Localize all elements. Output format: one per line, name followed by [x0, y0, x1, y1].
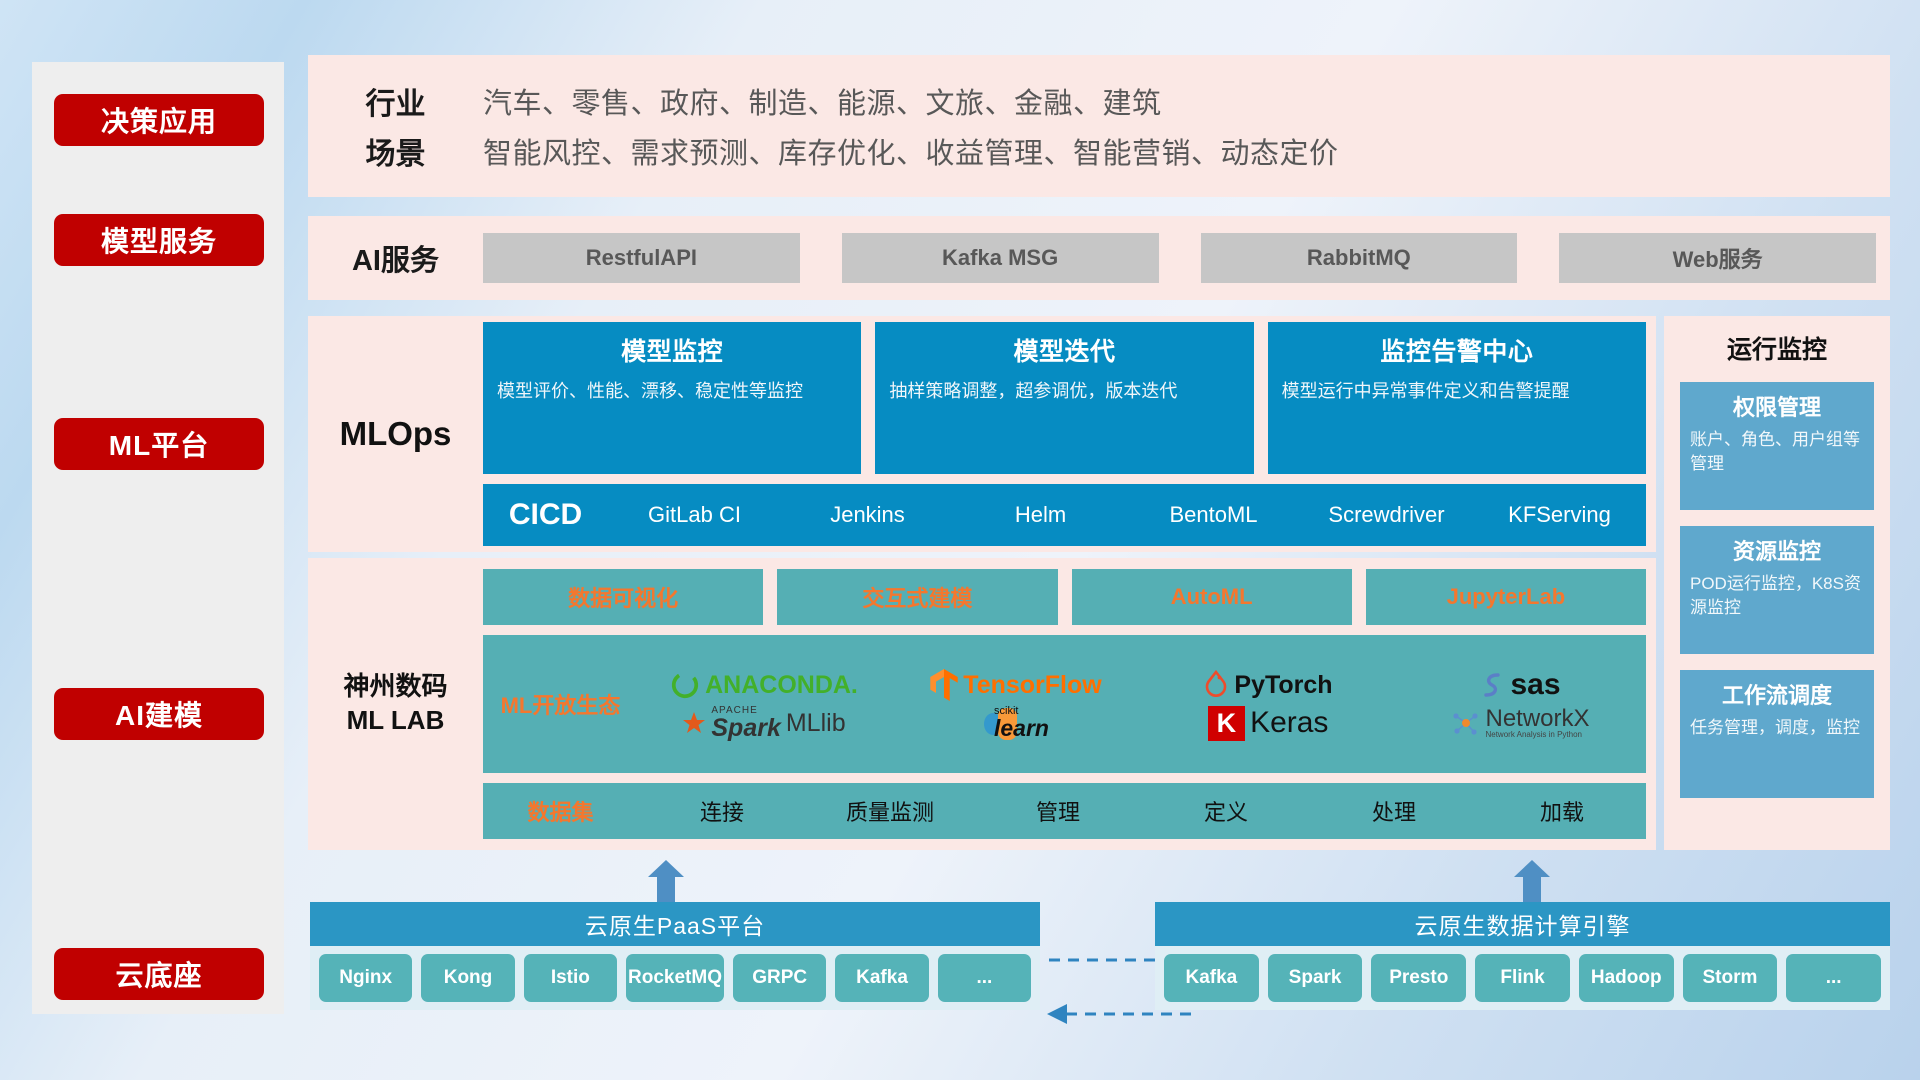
- industry-scenario-band: 行业 汽车、零售、政府、制造、能源、文旅、金融、建筑 场景 智能风控、需求预测、…: [308, 55, 1890, 197]
- dataset-item-manage[interactable]: 管理: [974, 795, 1142, 827]
- monitor-card-resource[interactable]: 资源监控 POD运行监控，K8S资源监控: [1680, 526, 1874, 654]
- ai-service-box-web-service[interactable]: Web服务: [1559, 233, 1876, 283]
- networkx-wordmark: NetworkX Network Analysis in Python: [1485, 706, 1589, 740]
- card-title: 工作流调度: [1690, 678, 1864, 710]
- cicd-item-kfserving[interactable]: KFServing: [1473, 503, 1646, 526]
- ai-service-label: AI服务: [308, 237, 483, 279]
- cicd-bar: CICD GitLab CI Jenkins Helm BentoML Scre…: [483, 484, 1646, 546]
- engine-chip-list: Kafka Spark Presto Flink Hadoop Storm ..…: [1155, 946, 1890, 1010]
- ml-ecosystem-label: ML开放生态: [483, 688, 638, 720]
- card-title: 监控告警中心: [1282, 332, 1632, 368]
- engine-title: 云原生数据计算引擎: [1155, 902, 1890, 946]
- ai-service-band: AI服务 RestfulAPI Kafka MSG RabbitMQ Web服务: [308, 216, 1890, 300]
- engine-chip-hadoop[interactable]: Hadoop: [1579, 954, 1674, 1002]
- mlops-label: MLOps: [308, 415, 483, 453]
- up-arrow-paas-icon: [646, 860, 686, 902]
- mlops-card-model-iteration[interactable]: 模型迭代 抽样策略调整，超参调优，版本迭代: [875, 322, 1253, 474]
- sas-icon: [1479, 670, 1505, 700]
- sas-logo-text: sas: [1510, 668, 1560, 702]
- anaconda-logo: ANACONDA.: [670, 670, 858, 700]
- paas-chip-nginx[interactable]: Nginx: [319, 954, 412, 1002]
- rail-item-model-service[interactable]: 模型服务: [54, 214, 264, 266]
- dataset-label: 数据集: [483, 795, 638, 827]
- runtime-monitor-title: 运行监控: [1680, 330, 1874, 366]
- dataset-row: 数据集 连接 质量监测 管理 定义 处理 加载: [483, 783, 1646, 839]
- tensorflow-logo-text: TensorFlow: [963, 671, 1101, 700]
- tool-box-list: 数据可视化 交互式建模 AutoML JupyterLab: [483, 569, 1646, 625]
- cicd-item-gitlab-ci[interactable]: GitLab CI: [608, 503, 781, 526]
- ai-service-box-restfulapi[interactable]: RestfulAPI: [483, 233, 800, 283]
- mlops-card-list: 模型监控 模型评价、性能、漂移、稳定性等监控 模型迭代 抽样策略调整，超参调优，…: [483, 322, 1646, 474]
- learn-text: learn: [994, 717, 1049, 740]
- dataset-item-connect[interactable]: 连接: [638, 795, 806, 827]
- rail-item-ml-platform[interactable]: ML平台: [54, 418, 264, 470]
- engine-chip-flink[interactable]: Flink: [1475, 954, 1570, 1002]
- scenario-value: 智能风控、需求预测、库存优化、收益管理、智能营销、动态定价: [483, 130, 1339, 172]
- cicd-item-jenkins[interactable]: Jenkins: [781, 503, 954, 526]
- card-desc: 模型评价、性能、漂移、稳定性等监控: [497, 378, 847, 404]
- mlops-card-model-monitoring[interactable]: 模型监控 模型评价、性能、漂移、稳定性等监控: [483, 322, 861, 474]
- industry-value: 汽车、零售、政府、制造、能源、文旅、金融、建筑: [483, 80, 1162, 122]
- dataset-item-define[interactable]: 定义: [1142, 795, 1310, 827]
- tensorflow-icon: [930, 669, 958, 701]
- ml-lab-line1: 神州数码: [308, 670, 483, 704]
- cloud-native-paas-block: 云原生PaaS平台 Nginx Kong Istio RocketMQ GRPC…: [310, 902, 1040, 1010]
- cicd-item-helm[interactable]: Helm: [954, 503, 1127, 526]
- cloud-native-data-engine-block: 云原生数据计算引擎 Kafka Spark Presto Flink Hadoo…: [1155, 902, 1890, 1010]
- ml-platform-band: MLOps 模型监控 模型评价、性能、漂移、稳定性等监控 模型迭代 抽样策略调整…: [308, 316, 1656, 552]
- spark-wordmark: APACHE Spark: [711, 706, 780, 741]
- tool-box-jupyterlab[interactable]: JupyterLab: [1366, 569, 1646, 625]
- rail-label: ML平台: [109, 424, 209, 464]
- anaconda-logo-text: ANACONDA.: [705, 671, 858, 700]
- dataset-item-list: 连接 质量监测 管理 定义 处理 加载: [638, 795, 1646, 827]
- paas-chip-kafka[interactable]: Kafka: [835, 954, 928, 1002]
- scenario-line: 场景 智能风控、需求预测、库存优化、收益管理、智能营销、动态定价: [308, 126, 1890, 176]
- spark-star-icon: [682, 711, 706, 735]
- monitor-card-workflow[interactable]: 工作流调度 任务管理，调度，监控: [1680, 670, 1874, 798]
- networkx-subtitle: Network Analysis in Python: [1485, 731, 1589, 739]
- pytorch-logo: PyTorch: [1203, 670, 1332, 700]
- spark-text: Spark: [711, 716, 780, 741]
- cicd-item-screwdriver[interactable]: Screwdriver: [1300, 503, 1473, 526]
- keras-logo: K Keras: [1208, 706, 1329, 741]
- paas-title: 云原生PaaS平台: [310, 902, 1040, 946]
- paas-chip-rocketmq[interactable]: RocketMQ: [626, 954, 724, 1002]
- networkx-icon: [1450, 708, 1480, 738]
- networkx-logo: NetworkX Network Analysis in Python: [1450, 706, 1589, 740]
- rail-item-decision-app[interactable]: 决策应用: [54, 94, 264, 146]
- rail-label: AI建模: [115, 694, 203, 734]
- dataset-item-process[interactable]: 处理: [1310, 795, 1478, 827]
- rail-label: 决策应用: [101, 100, 217, 140]
- ml-ecosystem-logo-grid: ANACONDA. TensorFlow: [638, 666, 1646, 742]
- ai-modeling-band: 神州数码 ML LAB 数据可视化 交互式建模 AutoML JupyterLa…: [308, 558, 1656, 850]
- card-desc: 账户、角色、用户组等管理: [1690, 428, 1864, 476]
- paas-chip-grpc[interactable]: GRPC: [733, 954, 826, 1002]
- rail-item-cloud-base[interactable]: 云底座: [54, 948, 264, 1000]
- tool-box-automl[interactable]: AutoML: [1072, 569, 1352, 625]
- rail-item-ai-modeling[interactable]: AI建模: [54, 688, 264, 740]
- card-desc: 抽样策略调整，超参调优，版本迭代: [889, 378, 1239, 404]
- rail-label: 模型服务: [101, 220, 217, 260]
- card-title: 资源监控: [1690, 534, 1864, 566]
- monitor-card-permission[interactable]: 权限管理 账户、角色、用户组等管理: [1680, 382, 1874, 510]
- dataset-item-quality[interactable]: 质量监测: [806, 795, 974, 827]
- engine-chip-spark[interactable]: Spark: [1268, 954, 1363, 1002]
- cicd-item-bentoml[interactable]: BentoML: [1127, 503, 1300, 526]
- ml-ecosystem-row: ML开放生态 ANACONDA. TensorFlow: [483, 635, 1646, 773]
- card-title: 权限管理: [1690, 390, 1864, 422]
- mlops-card-alert-center[interactable]: 监控告警中心 模型运行中异常事件定义和告警提醒: [1268, 322, 1646, 474]
- card-desc: 任务管理，调度，监控: [1690, 716, 1864, 740]
- paas-chip-list: Nginx Kong Istio RocketMQ GRPC Kafka ...: [310, 946, 1040, 1010]
- card-desc: 模型运行中异常事件定义和告警提醒: [1282, 378, 1632, 404]
- tensorflow-logo: TensorFlow: [930, 669, 1101, 701]
- mllib-logo-text: MLlib: [786, 709, 846, 738]
- ai-service-box-rabbitmq[interactable]: RabbitMQ: [1201, 233, 1518, 283]
- paas-chip-istio[interactable]: Istio: [524, 954, 617, 1002]
- ai-service-box-list: RestfulAPI Kafka MSG RabbitMQ Web服务: [483, 233, 1890, 283]
- keras-mark-icon: K: [1208, 706, 1246, 741]
- cicd-item-list: GitLab CI Jenkins Helm BentoML Screwdriv…: [608, 503, 1646, 526]
- engine-chip-kafka[interactable]: Kafka: [1164, 954, 1259, 1002]
- pytorch-logo-text: PyTorch: [1234, 671, 1332, 700]
- card-title: 模型监控: [497, 332, 847, 368]
- cicd-title: CICD: [483, 498, 608, 532]
- industry-line: 行业 汽车、零售、政府、制造、能源、文旅、金融、建筑: [308, 76, 1890, 126]
- card-desc: POD运行监控，K8S资源监控: [1690, 572, 1864, 620]
- paas-chip-more[interactable]: ...: [938, 954, 1031, 1002]
- ml-lab-line2: ML LAB: [308, 704, 483, 738]
- tool-box-data-visualization[interactable]: 数据可视化: [483, 569, 763, 625]
- spark-mllib-logo: APACHE Spark MLlib: [682, 706, 845, 741]
- arrow-left-icon: [1047, 1004, 1067, 1024]
- ml-lab-label: 神州数码 ML LAB: [308, 670, 483, 738]
- card-title: 模型迭代: [889, 332, 1239, 368]
- ai-modeling-content: 数据可视化 交互式建模 AutoML JupyterLab ML开放生态 ANA…: [483, 569, 1656, 839]
- engine-chip-presto[interactable]: Presto: [1371, 954, 1466, 1002]
- ai-service-box-kafka-msg[interactable]: Kafka MSG: [842, 233, 1159, 283]
- scikit-learn-wordmark: scikit learn: [994, 706, 1049, 740]
- mlops-content: 模型监控 模型评价、性能、漂移、稳定性等监控 模型迭代 抽样策略调整，超参调优，…: [483, 322, 1656, 546]
- engine-chip-storm[interactable]: Storm: [1683, 954, 1778, 1002]
- scikit-learn-logo: scikit learn: [983, 704, 1049, 742]
- tool-box-interactive-modeling[interactable]: 交互式建模: [777, 569, 1057, 625]
- networkx-logo-text: NetworkX: [1485, 706, 1589, 731]
- engine-chip-more[interactable]: ...: [1786, 954, 1881, 1002]
- dataset-item-load[interactable]: 加载: [1478, 795, 1646, 827]
- pytorch-icon: [1203, 670, 1229, 700]
- industry-label: 行业: [308, 79, 483, 123]
- left-rail: 决策应用 模型服务 ML平台 AI建模 云底座: [32, 62, 284, 1014]
- anaconda-icon: [670, 670, 700, 700]
- sas-logo: sas: [1479, 668, 1560, 702]
- keras-logo-text: Keras: [1250, 706, 1328, 740]
- runtime-monitor-panel: 运行监控 权限管理 账户、角色、用户组等管理 资源监控 POD运行监控，K8S资…: [1664, 316, 1890, 850]
- up-arrow-engine-icon: [1512, 860, 1552, 902]
- paas-chip-kong[interactable]: Kong: [421, 954, 514, 1002]
- rail-label: 云底座: [115, 954, 202, 994]
- scenario-label: 场景: [308, 129, 483, 173]
